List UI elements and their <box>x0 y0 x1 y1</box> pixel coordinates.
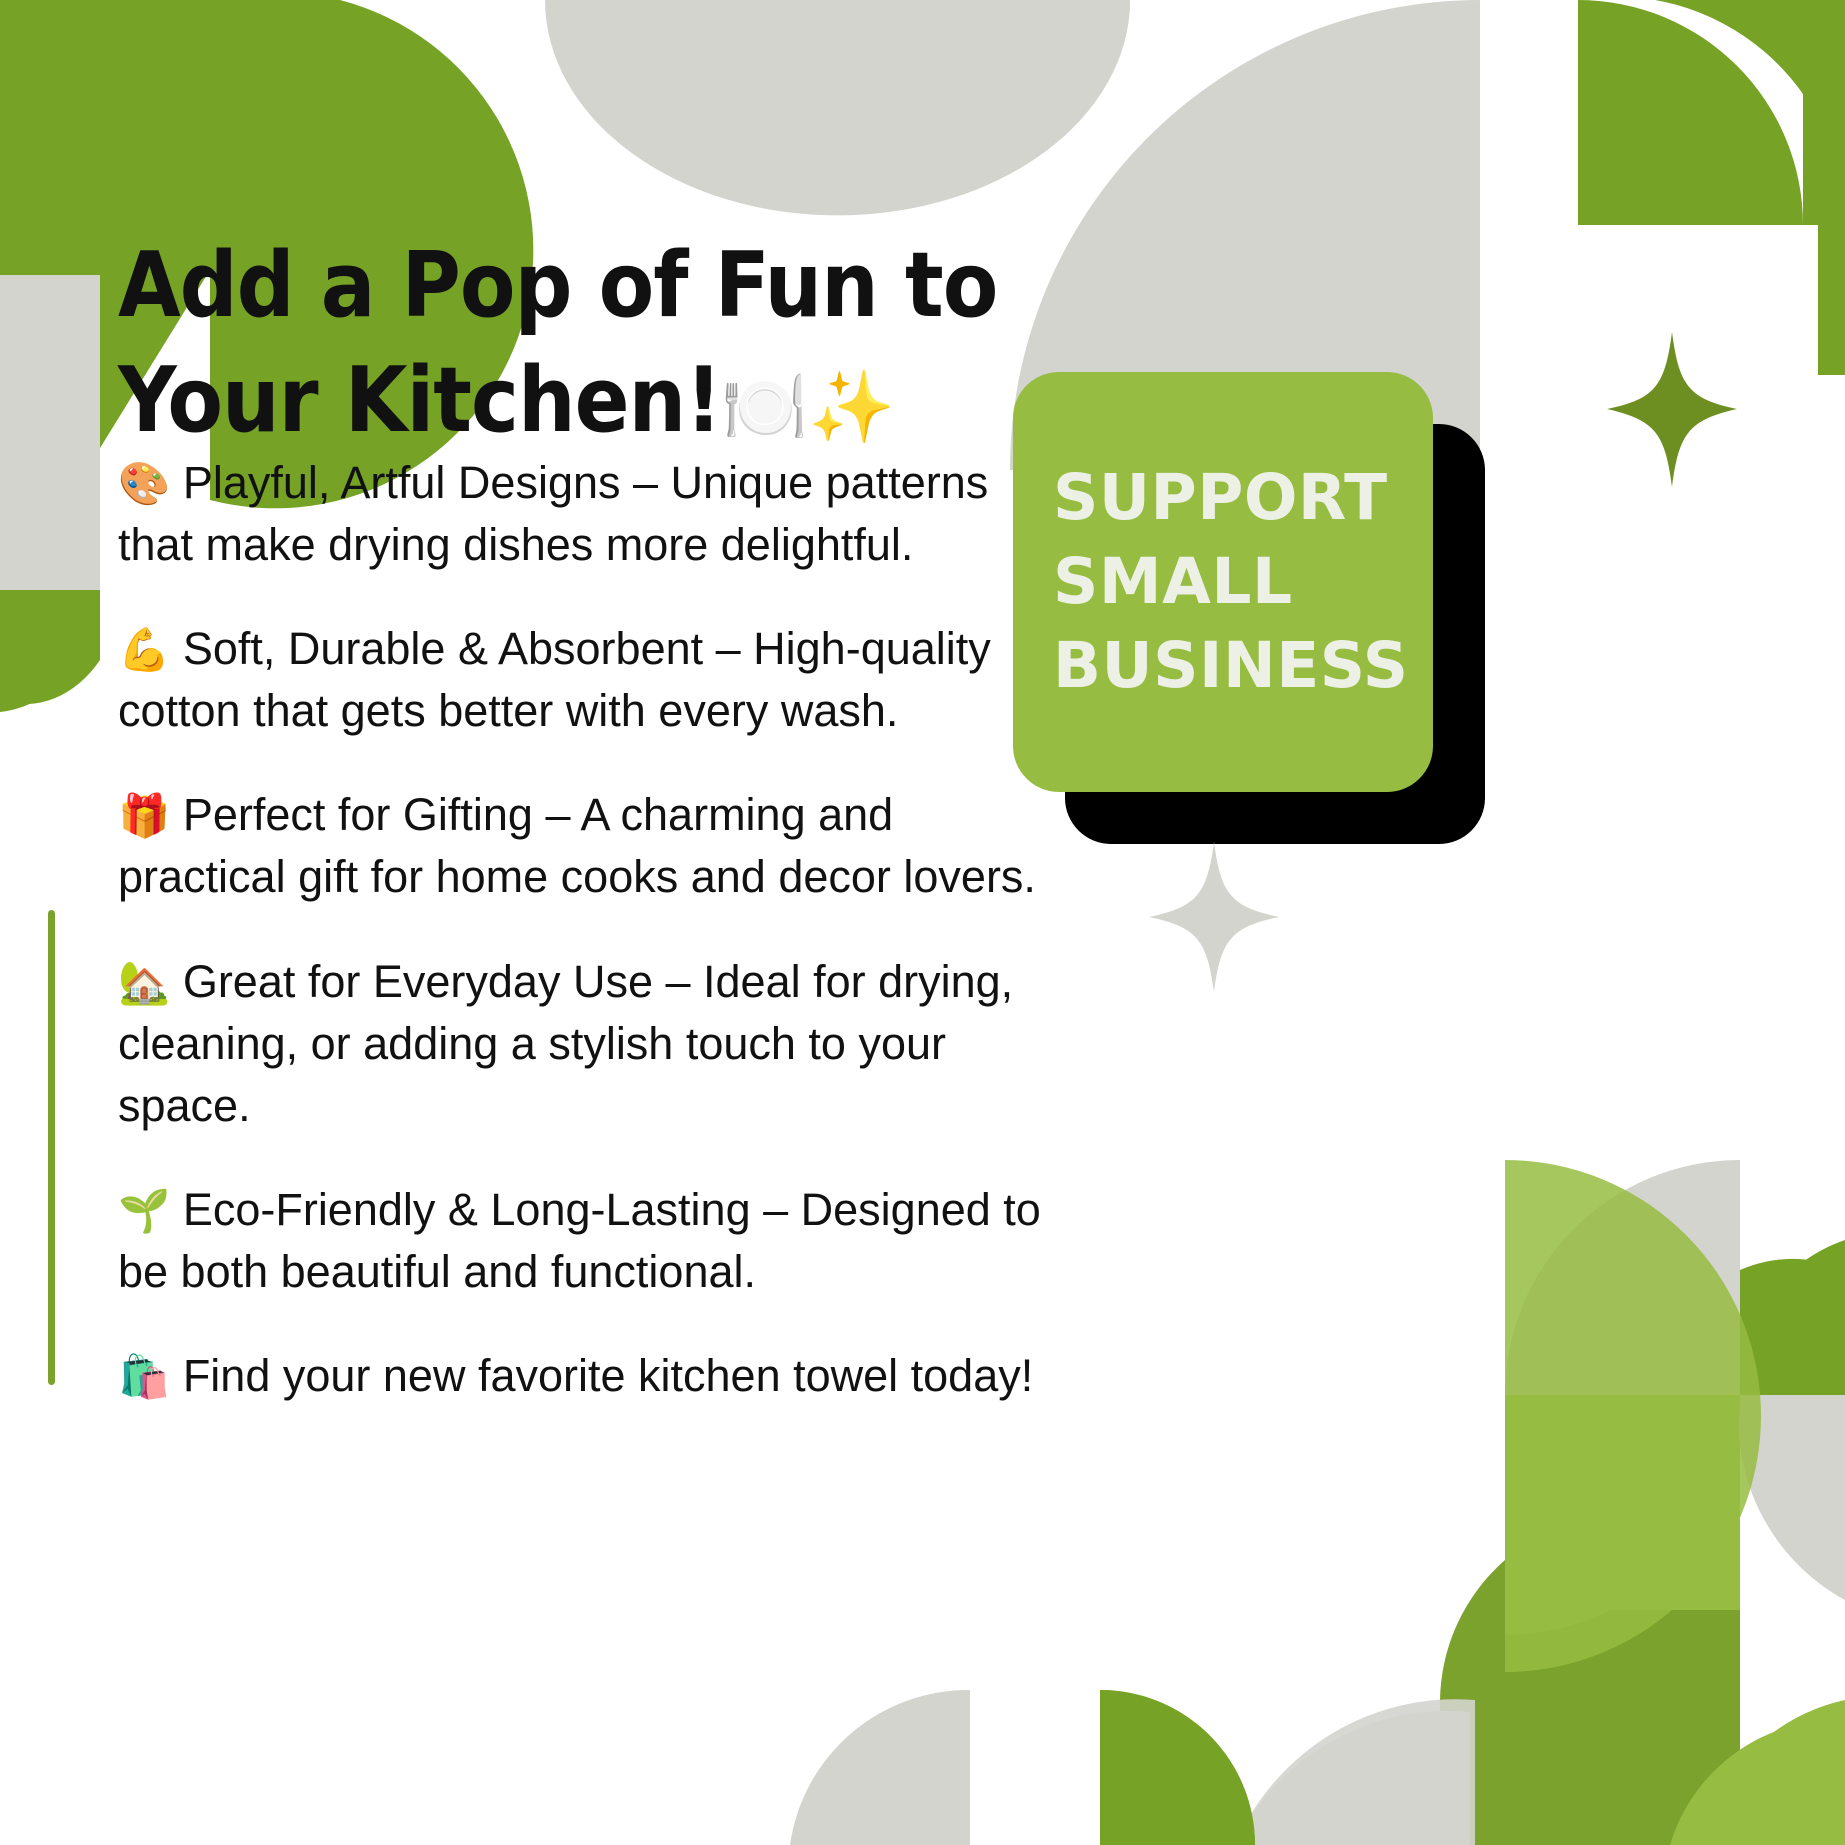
list-item-text: Perfect for Gifting – A charming and pra… <box>118 789 1036 902</box>
shopping-bags-emoji-icon: 🛍️ <box>118 1352 170 1401</box>
deco-shape-green-leftedge-curve <box>0 590 100 712</box>
deco-shape-gray-quarter-bottomcenter <box>790 1690 970 1845</box>
list-item-text: Playful, Artful Designs – Unique pattern… <box>118 457 988 570</box>
badge-card: SUPPORT SMALL BUSINESS <box>1013 372 1433 792</box>
list-item-text: Soft, Durable & Absorbent – High-quality… <box>118 623 991 736</box>
deco-shape-green-leftedge-bottom <box>0 590 100 704</box>
list-item-text: Find your new favorite kitchen towel tod… <box>183 1350 1033 1401</box>
deco-shape-green-quartercircle-topright <box>1575 0 1845 230</box>
deco-shape-green-arc-topright <box>1578 0 1803 225</box>
list-item-text: Great for Everyday Use – Ideal for dryin… <box>118 956 1013 1131</box>
deco-shape-gray-quarter-br1 <box>1505 1160 1740 1395</box>
deco-shape-gray-quarter-bottom <box>1235 1711 1470 1845</box>
list-item-text: Eco-Friendly & Long-Lasting – Designed t… <box>118 1184 1041 1297</box>
deco-shape-green-arc-br-right <box>1740 1259 1845 1395</box>
deco-shape-gray-ellipse-topcenter <box>546 0 1130 215</box>
deco-shape-green-circle-corner2 <box>1700 1700 1845 1845</box>
deco-shape-green-quarter-br2 <box>1505 1395 1740 1610</box>
badge-line-3: BUSINESS <box>1053 624 1433 708</box>
list-item: 🎨 Playful, Artful Designs – Unique patte… <box>118 452 1048 576</box>
artist-palette-emoji-icon: 🎨 <box>118 459 170 508</box>
vertical-accent-line <box>48 910 55 1385</box>
deco-shape-green-quarter-bottomcenter2 <box>1100 1690 1255 1845</box>
sparkle-green-icon <box>1607 332 1737 487</box>
deco-shape-green-quarter-br-right <box>1740 1240 1845 1395</box>
seedling-emoji-icon: 🌱 <box>118 1186 170 1235</box>
flexed-biceps-emoji-icon: 💪 <box>118 625 170 674</box>
deco-shape-green-overlay-2 <box>1505 1400 1740 1635</box>
list-item: 🎁 Perfect for Gifting – A charming and p… <box>118 784 1048 908</box>
sparkle-gray-icon <box>1149 842 1279 992</box>
deco-shape-gray-rect-leftedge <box>0 275 100 590</box>
support-small-business-badge: SUPPORT SMALL BUSINESS <box>1013 372 1433 792</box>
deco-shape-gray-arc-br3 <box>1739 1400 1845 1600</box>
deco-shape-green-bar-topright <box>1803 0 1845 225</box>
deco-shape-green-quarter-bottomcenter <box>1105 1690 1255 1845</box>
poster-canvas: Add a Pop of Fun to Your Kitchen!🍽️✨ 🎨 P… <box>0 0 1845 1845</box>
list-item: 🌱 Eco-Friendly & Long-Lasting – Designed… <box>118 1179 1048 1303</box>
deco-shape-green-curve-bottom <box>1440 1610 1505 1845</box>
list-item: 💪 Soft, Durable & Absorbent – High-quali… <box>118 618 1048 742</box>
deco-shape-gray-quarter-bottom2 <box>1235 1699 1475 1845</box>
title-emoji-cutlery-sparkles: 🍽️✨ <box>721 366 895 448</box>
list-item: 🛍️ Find your new favorite kitchen towel … <box>118 1345 1048 1407</box>
house-with-garden-emoji-icon: 🏡 <box>118 958 170 1007</box>
deco-shape-green-rect-br1 <box>1505 1395 1740 1610</box>
deco-shape-gray-quarter-br3 <box>1738 1395 1845 1600</box>
deco-shape-gray-halfcircle-topcenter <box>545 0 1130 215</box>
badge-line-1: SUPPORT <box>1053 456 1433 540</box>
title-line-2: Kitchen! <box>345 348 721 453</box>
feature-bullet-list: 🎨 Playful, Artful Designs – Unique patte… <box>118 452 1048 1407</box>
deco-shape-green-curve-bottom2 <box>1440 1560 1505 1845</box>
deco-shape-green-circle-corner <box>1670 1720 1845 1845</box>
badge-line-2: SMALL <box>1053 540 1433 624</box>
deco-shape-green-bar-bottom <box>1505 1610 1740 1845</box>
list-item: 🏡 Great for Everyday Use – Ideal for dry… <box>118 951 1048 1137</box>
deco-shape-green-overlay-1 <box>1505 1160 1761 1672</box>
deco-shape-green-bar-right-edge <box>1818 225 1845 375</box>
wrapped-gift-emoji-icon: 🎁 <box>118 791 170 840</box>
